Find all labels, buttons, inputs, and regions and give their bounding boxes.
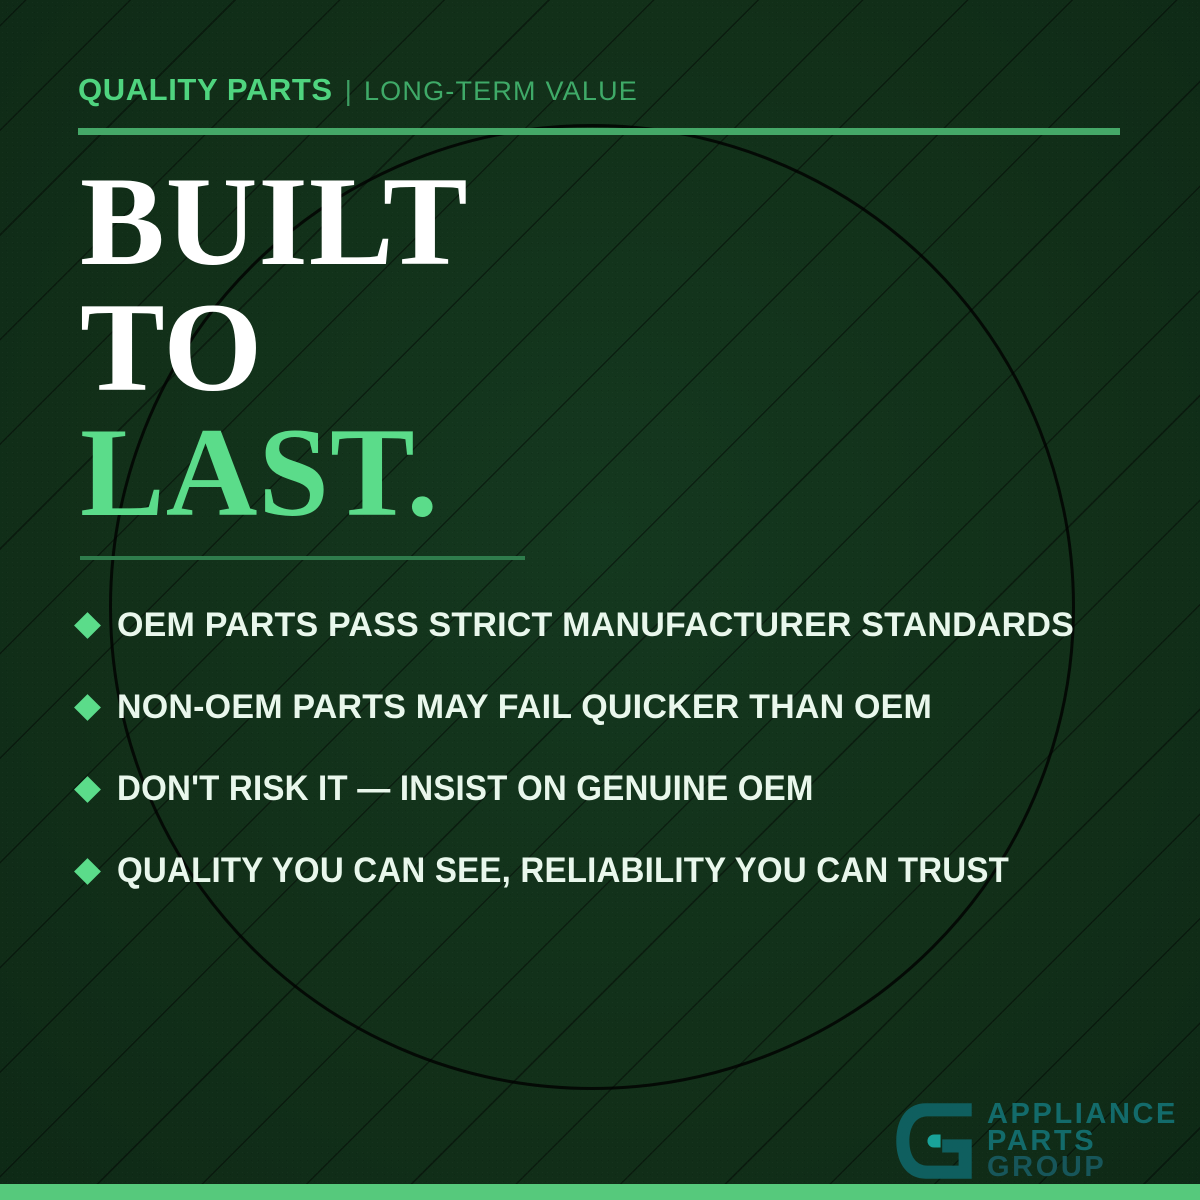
eyebrow-heading: QUALITY PARTS | LONG-TERM VALUE [78,72,638,108]
headline-line-3: LAST. [80,411,469,537]
poster-canvas: QUALITY PARTS | LONG-TERM VALUE BUILT TO… [0,0,1200,1200]
eyebrow-main-label: QUALITY PARTS [78,72,333,108]
logo-word-group: GROUP [987,1154,1178,1181]
diamond-bullet-icon [74,694,101,721]
list-item-label: OEM PARTS PASS STRICT MANUFACTURER STAND… [117,606,1074,645]
page-title: BUILT TO LAST. [80,160,469,537]
brand-logo-wordmark: APPLIANCE PARTS GROUP [987,1101,1178,1182]
footer-accent-bar [0,1184,1200,1200]
header-divider-rule [78,128,1120,135]
list-item-label: QUALITY YOU CAN SEE, RELIABILITY YOU CAN… [117,851,1009,891]
diamond-bullet-icon [74,858,101,885]
headline-divider-rule [80,556,525,560]
list-item: QUALITY YOU CAN SEE, RELIABILITY YOU CAN… [78,830,1138,912]
list-item: NON-OEM PARTS MAY FAIL QUICKER THAN OEM [78,666,1138,748]
list-item: OEM PARTS PASS STRICT MANUFACTURER STAND… [78,584,1138,666]
benefits-list: OEM PARTS PASS STRICT MANUFACTURER STAND… [78,584,1138,912]
list-item: DON'T RISK IT — INSIST ON GENUINE OEM [78,748,1138,830]
headline-line-2: TO [80,286,469,412]
eyebrow-sub-label: LONG-TERM VALUE [364,76,638,107]
headline-line-1: BUILT [80,160,469,286]
logo-word-appliance: APPLIANCE [987,1101,1178,1128]
eyebrow-separator: | [345,75,352,107]
list-item-label: DON'T RISK IT — INSIST ON GENUINE OEM [117,769,814,809]
brand-logo: APPLIANCE PARTS GROUP [893,1100,1178,1182]
diamond-bullet-icon [74,776,101,803]
g-monogram-icon [893,1100,975,1182]
diamond-bullet-icon [74,612,101,639]
list-item-label: NON-OEM PARTS MAY FAIL QUICKER THAN OEM [117,688,932,727]
logo-word-parts: PARTS [987,1128,1178,1155]
